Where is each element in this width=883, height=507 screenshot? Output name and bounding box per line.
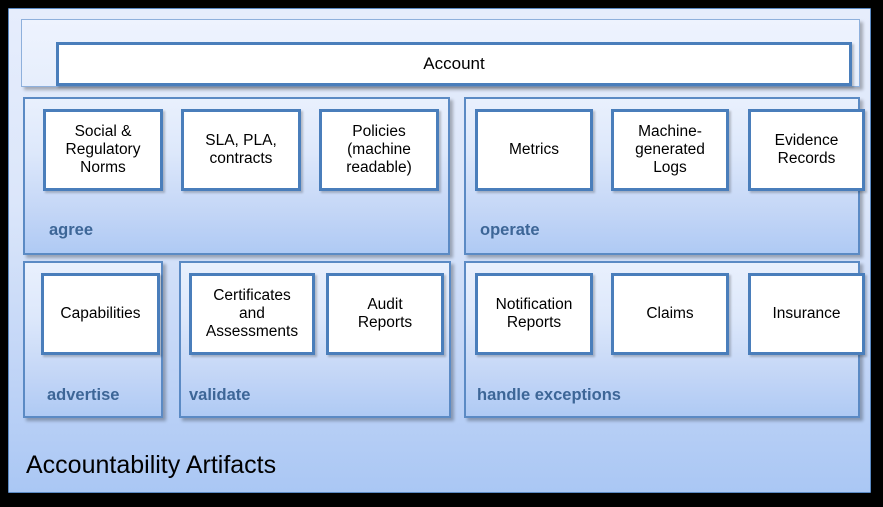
artifact-box-insurance[interactable]: Insurance bbox=[748, 273, 865, 355]
artifact-label-line: and bbox=[206, 305, 298, 323]
artifact-box-sla-pla-contracts[interactable]: SLA, PLA, contracts bbox=[181, 109, 301, 191]
artifact-label-line: Insurance bbox=[772, 305, 840, 323]
artifact-box-evidence-records[interactable]: Evidence Records bbox=[748, 109, 865, 191]
artifact-box-policies-machine-readable[interactable]: Policies (machine readable) bbox=[319, 109, 439, 191]
artifact-box-social-regulatory-norms[interactable]: Social & Regulatory Norms bbox=[43, 109, 163, 191]
artifact-label-line: (machine bbox=[346, 141, 412, 159]
diagram-title: Accountability Artifacts bbox=[26, 451, 276, 480]
artifact-label-line: Metrics bbox=[509, 141, 559, 159]
artifact-label-line: Assessments bbox=[206, 323, 298, 341]
artifact-box-certificates-and-assessments[interactable]: Certificates and Assessments bbox=[189, 273, 315, 355]
artifact-label-line: Social & bbox=[66, 123, 141, 141]
artifact-box-notification-reports[interactable]: Notification Reports bbox=[475, 273, 593, 355]
artifact-label-line: Audit bbox=[358, 296, 412, 314]
accountability-artifacts-container: Account Social & Regulatory Norms SLA, P… bbox=[8, 8, 871, 493]
artifact-box-machine-generated-logs[interactable]: Machine- generated Logs bbox=[611, 109, 729, 191]
artifact-box-metrics[interactable]: Metrics bbox=[475, 109, 593, 191]
artifact-box-capabilities[interactable]: Capabilities bbox=[41, 273, 160, 355]
artifact-label-line: Claims bbox=[646, 305, 693, 323]
artifact-box-claims[interactable]: Claims bbox=[611, 273, 729, 355]
artifact-box-audit-reports[interactable]: Audit Reports bbox=[326, 273, 444, 355]
artifact-label-account: Account bbox=[423, 54, 484, 74]
artifact-label-line: readable) bbox=[346, 159, 412, 177]
group-label-validate: validate bbox=[189, 386, 250, 405]
artifact-label-line: SLA, PLA, bbox=[205, 132, 277, 150]
artifact-label-line: Notification bbox=[496, 296, 573, 314]
artifact-label-line: Evidence bbox=[775, 132, 839, 150]
artifact-label-line: Norms bbox=[66, 159, 141, 177]
group-label-operate: operate bbox=[480, 221, 540, 240]
artifact-label-line: Policies bbox=[346, 123, 412, 141]
group-label-handle-exceptions: handle exceptions bbox=[477, 386, 621, 405]
artifact-label-line: Capabilities bbox=[60, 305, 140, 323]
group-label-agree: agree bbox=[49, 221, 93, 240]
diagram-frame: Account Social & Regulatory Norms SLA, P… bbox=[0, 0, 883, 507]
artifact-label-line: Reports bbox=[496, 314, 573, 332]
artifact-box-account[interactable]: Account bbox=[56, 42, 852, 86]
artifact-label-line: Regulatory bbox=[66, 141, 141, 159]
group-label-advertise: advertise bbox=[47, 386, 119, 405]
artifact-label-line: Records bbox=[775, 150, 839, 168]
artifact-label-line: Logs bbox=[635, 159, 705, 177]
artifact-label-line: Reports bbox=[358, 314, 412, 332]
account-panel: Account bbox=[21, 19, 860, 87]
artifact-label-line: Machine- bbox=[635, 123, 705, 141]
artifact-label-line: contracts bbox=[205, 150, 277, 168]
artifact-label-line: Certificates bbox=[206, 287, 298, 305]
artifact-label-line: generated bbox=[635, 141, 705, 159]
